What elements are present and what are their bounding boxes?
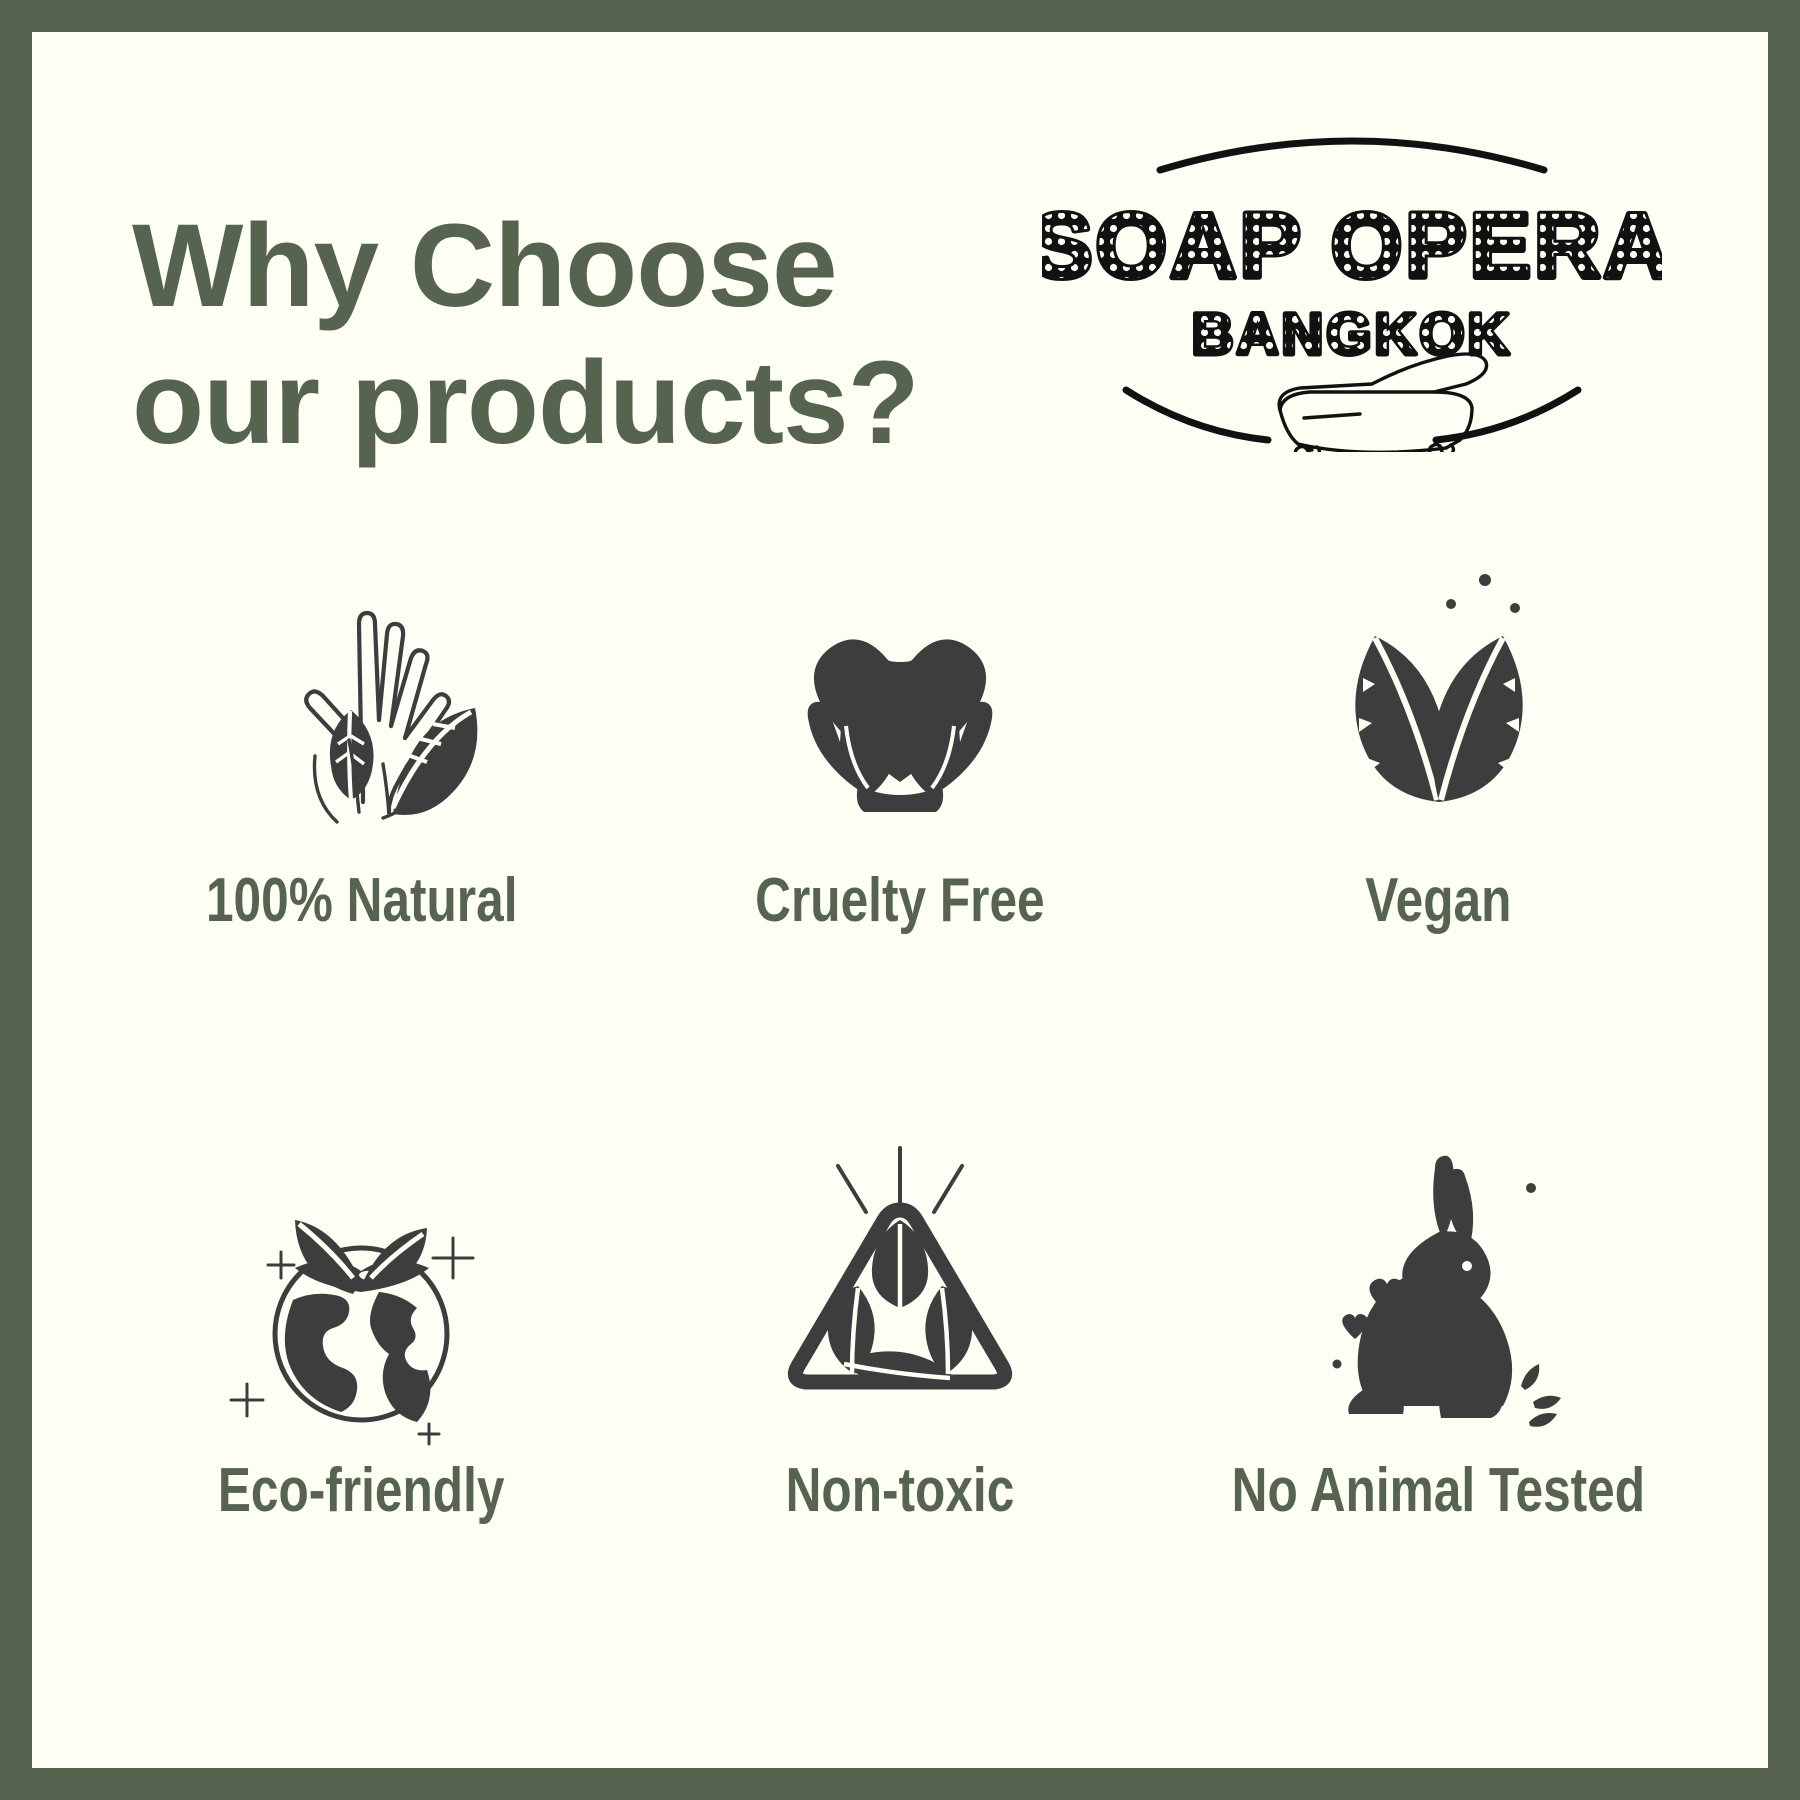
rays [838,1148,962,1212]
logo-wordmark-secondary: BANGKOK BANGKOK [1192,302,1513,367]
sparkle-dot [1510,603,1520,613]
feature-card-cruelty-free: Cruelty Free [631,532,1170,1122]
logo-arc-bottom-left [1126,390,1268,440]
feature-label-eco-friendly: Eco-friendly [218,1460,505,1522]
rabbit-eye [1462,1261,1472,1271]
feature-card-vegan: Vegan [1169,532,1708,1122]
sprig [1521,1364,1561,1427]
recycle-leaves-icon [750,1140,1050,1440]
feature-card-no-animal-tested: No Animal Tested [1169,1122,1708,1712]
logo-wordmark-primary: SOAP OPERA SOAP OPERA [1042,195,1662,297]
sparkle-dot [1332,1360,1341,1369]
sparkle-dot [1479,574,1491,586]
heart-in-hands-icon [750,550,1050,850]
header: Why Choose our products? SOAP OPERA SOAP… [32,32,1768,532]
sprout [295,1220,429,1294]
feature-card-eco-friendly: Eco-friendly [92,1122,631,1712]
feature-label-cruelty-free: Cruelty Free [755,870,1044,932]
poster-canvas: Why Choose our products? SOAP OPERA SOAP… [32,32,1768,1768]
rabbit-with-hearts-icon [1289,1140,1589,1440]
brand-logo: SOAP OPERA SOAP OPERA BANGKOK BANGKOK [1042,92,1662,452]
logo-arc-top [1160,141,1544,170]
page-title-line-2: our products? [132,335,1072,472]
svg-text:BANGKOK: BANGKOK [1192,302,1513,367]
hand-with-leaves-icon [211,550,511,850]
sparkle-dot [1526,1183,1536,1193]
feature-label-non-toxic: Non-toxic [786,1460,1015,1522]
page-title-line-1: Why Choose [132,200,837,332]
page-title: Why Choose our products? [132,198,1072,472]
sparkle-dot [1446,599,1456,609]
feature-label-natural: 100% Natural [206,870,518,932]
globe-sprout-icon [211,1140,511,1440]
feature-label-no-animal-tested: No Animal Tested [1232,1460,1645,1522]
svg-text:SOAP OPERA: SOAP OPERA [1042,195,1662,297]
logo-arc-bottom-right [1436,390,1578,440]
feature-card-non-toxic: Non-toxic [631,1122,1170,1712]
feature-card-natural: 100% Natural [92,532,631,1122]
two-leaves-icon [1289,550,1589,850]
feature-grid: 100% Natural [92,532,1708,1712]
feature-label-vegan: Vegan [1366,870,1512,932]
